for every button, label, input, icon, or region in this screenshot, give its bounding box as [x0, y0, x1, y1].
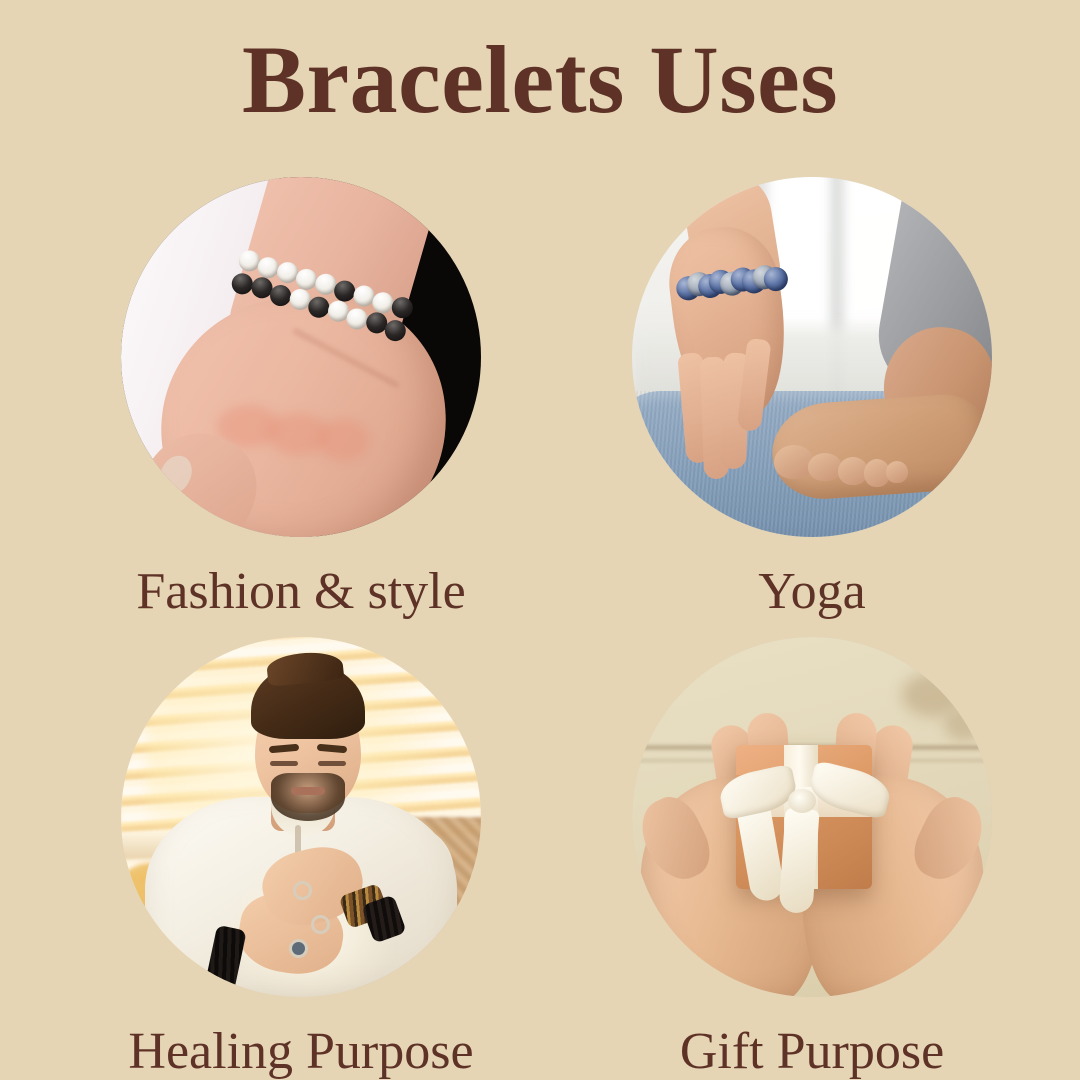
ribbon-knot [788, 789, 816, 813]
ring [293, 881, 312, 900]
knuckle [317, 419, 369, 461]
photo-fashion-style [121, 177, 481, 537]
toe [808, 453, 842, 481]
caption-healing-purpose: Healing Purpose [121, 1023, 481, 1080]
mouth [291, 787, 325, 795]
toe [886, 461, 908, 483]
caption-gift-purpose: Gift Purpose [632, 1023, 992, 1080]
closed-eye [318, 761, 346, 766]
photo-healing-purpose [121, 637, 481, 997]
photo-gift-purpose [632, 637, 992, 997]
card-healing-purpose[interactable]: Healing Purpose [121, 637, 481, 1080]
caption-yoga: Yoga [632, 563, 992, 620]
card-yoga[interactable]: Yoga [632, 177, 992, 620]
ribbon-tail [778, 808, 819, 914]
caption-fashion-style: Fashion & style [121, 563, 481, 620]
page-title: Bracelets Uses [0, 26, 1080, 134]
card-fashion-style[interactable]: Fashion & style [121, 177, 481, 620]
ring [289, 939, 308, 958]
scene-gift-in-hands [632, 637, 992, 997]
photo-yoga [632, 177, 992, 537]
poster-canvas: Bracelets Uses Fashion & style [0, 0, 1080, 1080]
scene-meditating-man [121, 637, 481, 997]
ring [311, 915, 330, 934]
closed-eye [270, 761, 298, 766]
scene-bracelet-on-hand [121, 177, 481, 537]
background-blur-shape [944, 707, 984, 741]
scene-yoga-mat [632, 177, 992, 537]
beard [271, 773, 345, 821]
card-gift-purpose[interactable]: Gift Purpose [632, 637, 992, 1080]
